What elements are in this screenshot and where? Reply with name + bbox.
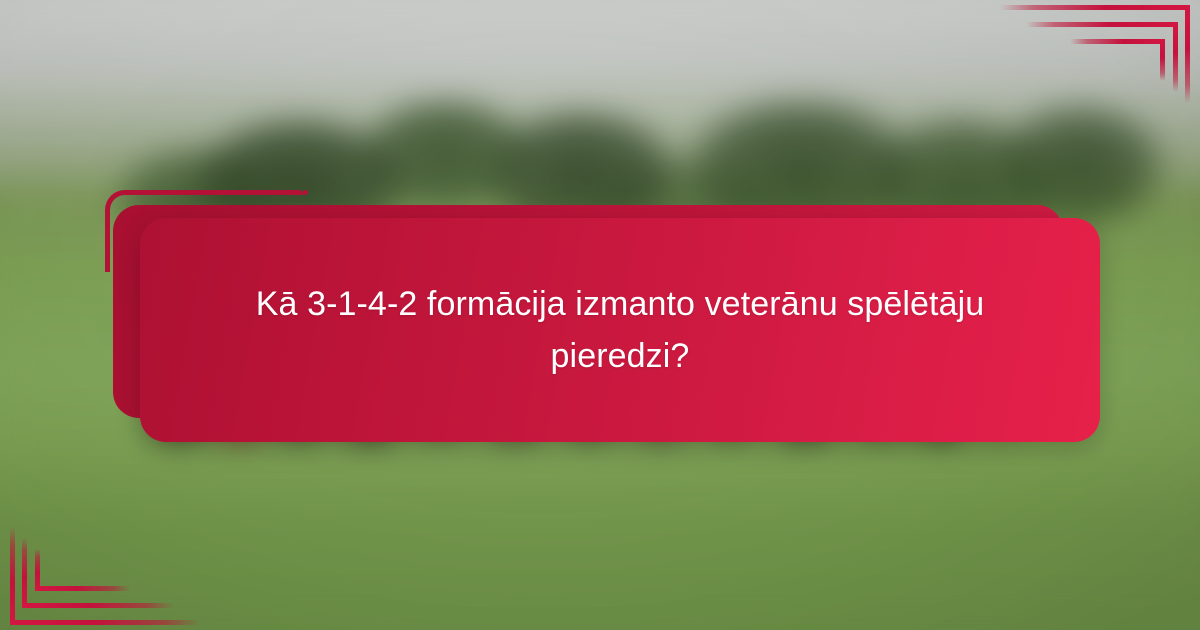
social-card-canvas: Kā 3-1-4-2 formācija izmanto veterānu sp… — [0, 0, 1200, 630]
card-front-panel: Kā 3-1-4-2 formācija izmanto veterānu sp… — [140, 218, 1100, 442]
headline-text: Kā 3-1-4-2 formācija izmanto veterānu sp… — [240, 278, 1000, 382]
